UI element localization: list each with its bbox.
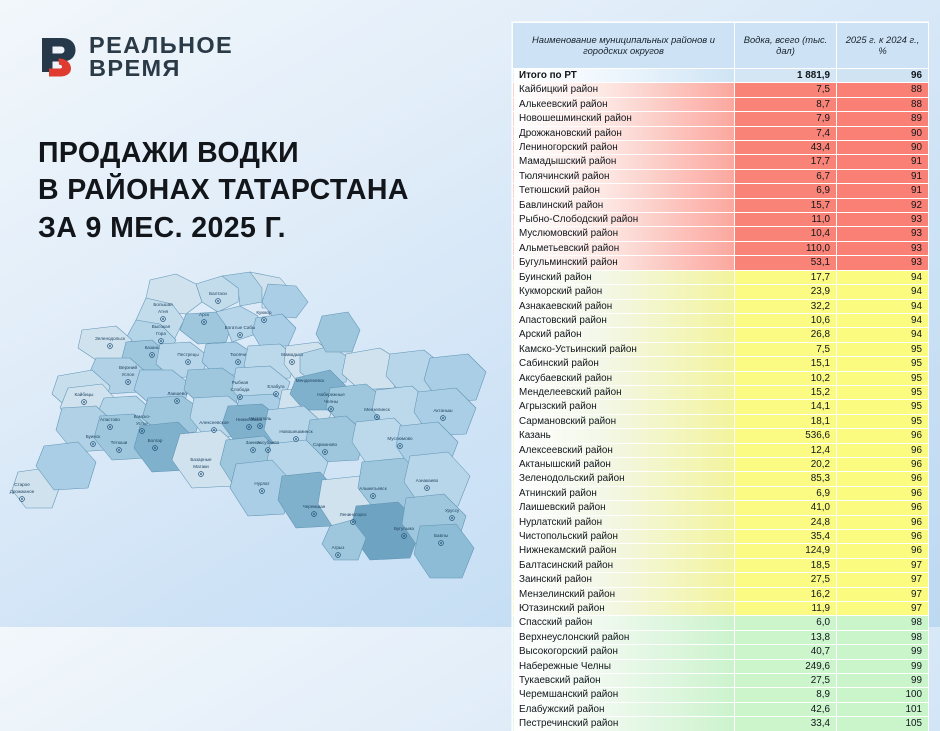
map-city-label: Муслюмово [387,436,413,441]
cell-percent-vs-2024: 89 [837,112,929,126]
table-row: Новошешминский район7,989 [513,112,929,126]
table-row: Мамадышский район17,791 [513,155,929,169]
cell-vodka-volume: 53,1 [735,256,837,270]
map-city-label: Балтаси [209,291,227,296]
cell-district-name: Атнинский район [513,486,735,500]
cell-vodka-volume: 7,5 [735,83,837,97]
cell-district-name: Азнакаевский район [513,299,735,313]
cell-percent-vs-2024: 96 [837,501,929,515]
map-city-label: Апастово [100,417,120,422]
map-city-label: Аксубаево [257,440,280,445]
map-city-label: Большая [153,302,173,307]
table-row: Лаишевский район41,096 [513,501,929,515]
cell-vodka-volume: 42,6 [735,702,837,716]
map-city-label: Атня [158,309,169,314]
sales-table-panel: Наименование муниципальных районов и гор… [512,22,928,731]
cell-percent-vs-2024: 96 [837,530,929,544]
map-city-marker-dot-icon [21,498,23,500]
table-row: Дрожжановский район7,490 [513,126,929,140]
map-city-marker-dot-icon [275,393,277,395]
page-title-line-1: ПРОДАЖИ ВОДКИ [38,135,488,172]
cell-vodka-volume: 23,9 [735,285,837,299]
cell-percent-vs-2024: 96 [837,486,929,500]
table-row: Елабужский район42,6101 [513,702,929,716]
map-city-label: Лаишево [167,391,187,396]
cell-district-name: Агрызский район [513,400,735,414]
map-city-marker-dot-icon [187,361,189,363]
map-city-label: Базарные [190,457,212,462]
map-city-marker-dot-icon [337,554,339,556]
map-city-marker-dot-icon [330,408,332,410]
brand-logo: РЕАЛЬНОЕ ВРЕМЯ [38,34,233,80]
cell-vodka-volume: 7,5 [735,342,837,356]
cell-district-name: Мамадышский район [513,155,735,169]
map-city-label: Набережные [317,392,345,397]
cell-percent-vs-2024: 100 [837,688,929,702]
cell-percent-vs-2024: 97 [837,602,929,616]
cell-percent-vs-2024: 93 [837,213,929,227]
cell-vodka-volume: 33,4 [735,717,837,731]
table-row: Верхнеуслонский район13,898 [513,630,929,644]
cell-percent-vs-2024: 92 [837,198,929,212]
cell-percent-vs-2024: 98 [837,630,929,644]
vodka-sales-table: Наименование муниципальных районов и гор… [512,22,929,731]
column-header-value: Водка, всего (тыс. дал) [735,23,837,69]
cell-percent-vs-2024: 94 [837,299,929,313]
cell-district-name: Кукморский район [513,285,735,299]
map-city-marker-dot-icon [141,430,143,432]
cell-vodka-volume: 20,2 [735,457,837,471]
table-row: Менделеевский район15,295 [513,385,929,399]
cell-district-name: Заинский район [513,573,735,587]
cell-district-name: Муслюмовский район [513,227,735,241]
cell-percent-vs-2024: 93 [837,256,929,270]
map-city-label: Казань [145,345,160,350]
cell-percent-vs-2024: 88 [837,83,929,97]
cell-vodka-volume: 10,2 [735,371,837,385]
table-row: Алексеевский район12,496 [513,443,929,457]
table-row: Кайбицкий район7,588 [513,83,929,97]
cell-vodka-volume: 6,9 [735,184,837,198]
map-city-label: Тюлячи [230,352,247,357]
table-header: Наименование муниципальных районов и гор… [513,23,929,69]
cell-district-name: Буинский район [513,270,735,284]
table-row: Бугульминский район53,193 [513,256,929,270]
table-row: Высокогорский район40,799 [513,645,929,659]
map-city-marker-dot-icon [127,381,129,383]
map-city-marker-dot-icon [372,495,374,497]
cell-vodka-volume: 6,7 [735,169,837,183]
map-city-marker-dot-icon [213,429,215,431]
cell-vodka-volume: 18,1 [735,414,837,428]
cell-district-name: Нижнекамский район [513,544,735,558]
cell-district-name: Елабужский район [513,702,735,716]
cell-percent-vs-2024: 96 [837,457,929,471]
table-row: Альметьевский район110,093 [513,241,929,255]
cell-percent-vs-2024: 93 [837,241,929,255]
cell-percent-vs-2024: 94 [837,328,929,342]
table-row: Итого по РТ1 881,996 [513,69,929,83]
table-header-row: Наименование муниципальных районов и гор… [513,23,929,69]
table-row: Тюлячинский район6,791 [513,169,929,183]
cell-district-name: Альметьевский район [513,241,735,255]
map-city-label: Челны [324,399,338,404]
cell-percent-vs-2024: 97 [837,573,929,587]
cell-vodka-volume: 1 881,9 [735,69,837,83]
cell-district-name: Менделеевский район [513,385,735,399]
cell-percent-vs-2024: 96 [837,69,929,83]
table-row: Кукморский район23,994 [513,285,929,299]
map-city-marker-dot-icon [451,517,453,519]
cell-vodka-volume: 8,9 [735,688,837,702]
map-city-marker-dot-icon [109,345,111,347]
cell-vodka-volume: 41,0 [735,501,837,515]
map-city-marker-dot-icon [83,401,85,403]
map-city-marker-dot-icon [399,445,401,447]
map-city-marker-dot-icon [151,354,153,356]
map-city-label: Услон [122,372,135,377]
table-body: Итого по РТ1 881,996Кайбицкий район7,588… [513,69,929,731]
cell-vodka-volume: 13,8 [735,630,837,644]
table-row: Аксубаевский район10,295 [513,371,929,385]
table-row: Спасский район6,098 [513,616,929,630]
map-city-label: Зеленодольск [95,336,126,341]
cell-percent-vs-2024: 94 [837,285,929,299]
map-city-label: Менделеевск [296,378,326,383]
cell-district-name: Бугульминский район [513,256,735,270]
cell-vodka-volume: 15,2 [735,385,837,399]
map-city-label: Матаки [193,464,209,469]
cell-district-name: Казань [513,429,735,443]
map-city-label: Богатые Сабы [225,325,256,330]
map-city-marker-dot-icon [237,361,239,363]
table-row: Казань536,696 [513,429,929,443]
cell-district-name: Аксубаевский район [513,371,735,385]
table-row: Пестречинский район33,4105 [513,717,929,731]
cell-vodka-volume: 15,1 [735,357,837,371]
map-city-label: Бавлы [434,533,448,538]
map-city-label: Сарманово [313,442,338,447]
cell-district-name: Черемшанский район [513,688,735,702]
cell-vodka-volume: 17,7 [735,270,837,284]
map-city-label: Алексеевское [199,420,229,425]
page-title-line-2: В РАЙОНАХ ТАТАРСТАНА [38,172,488,209]
map-city-label: Бугульма [394,526,414,531]
map-city-label: Буинск [86,434,102,439]
map-city-label: Азнакаево [416,478,439,483]
cell-vodka-volume: 18,5 [735,558,837,572]
map-city-label: Черемшан [303,504,326,509]
cell-district-name: Тукаевский район [513,674,735,688]
map-city-label: Старое [14,482,30,487]
map-city-marker-dot-icon [267,449,269,451]
map-city-label: Агрыз [332,545,345,550]
cell-district-name: Ютазинский район [513,602,735,616]
cell-district-name: Высокогорский район [513,645,735,659]
cell-percent-vs-2024: 97 [837,587,929,601]
cell-vodka-volume: 249,6 [735,659,837,673]
map-city-label: Актаныш [433,408,453,413]
cell-district-name: Апастовский район [513,313,735,327]
cell-district-name: Чистопольский район [513,530,735,544]
brand-wordmark: РЕАЛЬНОЕ ВРЕМЯ [89,34,233,80]
cell-district-name: Тюлячинский район [513,169,735,183]
cell-vodka-volume: 24,8 [735,515,837,529]
map-city-label: Рыбная [232,380,249,385]
map-city-marker-dot-icon [109,426,111,428]
cell-district-name: Алькеевский район [513,97,735,111]
map-city-label: Альметьевск [359,486,387,491]
cell-vodka-volume: 14,1 [735,400,837,414]
map-city-label: Дрожжаное [10,489,35,494]
map-city-marker-dot-icon [324,451,326,453]
column-header-name: Наименование муниципальных районов и гор… [513,23,735,69]
map-city-label: Уруссу [445,508,460,513]
table-row: Буинский район17,794 [513,270,929,284]
map-city-marker-dot-icon [160,340,162,342]
cell-district-name: Балтасинский район [513,558,735,572]
map-city-label: Мамадыш [281,352,303,357]
cell-vodka-volume: 16,2 [735,587,837,601]
cell-percent-vs-2024: 93 [837,227,929,241]
cell-district-name: Мензелинский район [513,587,735,601]
cell-percent-vs-2024: 99 [837,645,929,659]
map-city-marker-dot-icon [259,425,261,427]
cell-percent-vs-2024: 96 [837,429,929,443]
cell-percent-vs-2024: 99 [837,674,929,688]
map-city-marker-dot-icon [313,513,315,515]
map-city-label: Тетюши [111,440,128,445]
table-row: Агрызский район14,195 [513,400,929,414]
cell-percent-vs-2024: 95 [837,342,929,356]
cell-percent-vs-2024: 91 [837,184,929,198]
table-row: Атнинский район6,996 [513,486,929,500]
cell-district-name: Лаишевский район [513,501,735,515]
cell-district-name: Рыбно-Слободский район [513,213,735,227]
map-city-label: Пестрецы [177,352,198,357]
map-city-marker-dot-icon [92,443,94,445]
cell-vodka-volume: 15,7 [735,198,837,212]
cell-vodka-volume: 26,8 [735,328,837,342]
map-city-marker-dot-icon [263,319,265,321]
cell-district-name: Алексеевский район [513,443,735,457]
cell-district-name: Новошешминский район [513,112,735,126]
table-row: Мензелинский район16,297 [513,587,929,601]
cell-percent-vs-2024: 97 [837,558,929,572]
cell-vodka-volume: 7,9 [735,112,837,126]
table-row: Заинский район27,597 [513,573,929,587]
map-city-marker-dot-icon [426,487,428,489]
cell-vodka-volume: 124,9 [735,544,837,558]
cell-vodka-volume: 27,5 [735,573,837,587]
cell-percent-vs-2024: 91 [837,169,929,183]
cell-district-name: Актанышский район [513,457,735,471]
cell-percent-vs-2024: 95 [837,357,929,371]
map-city-label: Гора [156,331,166,336]
table-row: Тетюшский район6,991 [513,184,929,198]
table-row: Чистопольский район35,496 [513,530,929,544]
cell-district-name: Камско-Устьинский район [513,342,735,356]
table-row: Ютазинский район11,997 [513,602,929,616]
cell-vodka-volume: 32,2 [735,299,837,313]
map-regions [12,272,486,578]
cell-vodka-volume: 10,6 [735,313,837,327]
cell-percent-vs-2024: 95 [837,400,929,414]
map-city-label: Верхний [119,364,138,370]
map-city-label: Нурлат [254,481,270,486]
cell-district-name: Арский район [513,328,735,342]
table-row: Бавлинский район15,792 [513,198,929,212]
cell-district-name: Сабинский район [513,357,735,371]
table-row: Актанышский район20,296 [513,457,929,471]
cell-district-name: Бавлинский район [513,198,735,212]
cell-percent-vs-2024: 96 [837,544,929,558]
table-row: Азнакаевский район32,294 [513,299,929,313]
map-city-label: Елабуга [267,384,285,389]
map-city-marker-dot-icon [291,361,293,363]
map-city-label: Болгар [148,438,163,443]
map-city-label: Арск [199,312,210,317]
cell-percent-vs-2024: 95 [837,371,929,385]
cell-district-name: Верхнеуслонский район [513,630,735,644]
table-row: Черемшанский район8,9100 [513,688,929,702]
table-row: Сармановский район18,195 [513,414,929,428]
brand-line-2: ВРЕМЯ [89,57,233,80]
cell-percent-vs-2024: 95 [837,385,929,399]
cell-percent-vs-2024: 99 [837,659,929,673]
cell-percent-vs-2024: 88 [837,97,929,111]
cell-percent-vs-2024: 105 [837,717,929,731]
table-row: Тукаевский район27,599 [513,674,929,688]
cell-vodka-volume: 11,9 [735,602,837,616]
page-title-line-3: ЗА 9 МЕС. 2025 Г. [38,210,488,247]
map-city-marker-dot-icon [200,473,202,475]
cell-vodka-volume: 11,0 [735,213,837,227]
cell-vodka-volume: 6,0 [735,616,837,630]
table-row: Муслюмовский район10,493 [513,227,929,241]
cell-vodka-volume: 7,4 [735,126,837,140]
map-city-label: Лениногорск [340,512,368,517]
map-city-marker-dot-icon [162,318,164,320]
cell-district-name: Зеленодольский район [513,472,735,486]
map-city-label: Кайбицы [75,391,94,397]
cell-vodka-volume: 40,7 [735,645,837,659]
cell-district-name: Дрожжановский район [513,126,735,140]
cell-vodka-volume: 35,4 [735,530,837,544]
map-city-marker-dot-icon [440,542,442,544]
table-row: Зеленодольский район85,396 [513,472,929,486]
cell-district-name: Набережные Челны [513,659,735,673]
table-row: Балтасинский район18,597 [513,558,929,572]
map-city-label: Камско- [134,414,151,419]
cell-vodka-volume: 43,4 [735,141,837,155]
cell-percent-vs-2024: 96 [837,515,929,529]
realnoe-vremya-logo-icon [38,35,78,79]
left-panel: РЕАЛЬНОЕ ВРЕМЯ ПРОДАЖИ ВОДКИ В РАЙОНАХ Т… [0,0,510,627]
cell-vodka-volume: 536,6 [735,429,837,443]
cell-percent-vs-2024: 96 [837,472,929,486]
cell-district-name: Тетюшский район [513,184,735,198]
cell-percent-vs-2024: 101 [837,702,929,716]
map-city-label: Слобода [231,387,250,392]
cell-vodka-volume: 85,3 [735,472,837,486]
cell-percent-vs-2024: 96 [837,443,929,457]
table-row: Рыбно-Слободский район11,093 [513,213,929,227]
table-row: Камско-Устьинский район7,595 [513,342,929,356]
map-city-label: Кукмор [256,310,272,315]
map-city-marker-dot-icon [239,334,241,336]
map-city-label: Мензелинск [364,407,391,412]
column-header-percent: 2025 г. к 2024 г., % [837,23,929,69]
map-city-label: Высокая [152,324,171,329]
map-city-marker-dot-icon [352,521,354,523]
cell-vodka-volume: 6,9 [735,486,837,500]
map-city-marker-dot-icon [248,426,250,428]
cell-percent-vs-2024: 91 [837,155,929,169]
cell-percent-vs-2024: 94 [837,270,929,284]
cell-percent-vs-2024: 90 [837,126,929,140]
map-city-label: Устье [136,421,148,426]
map-city-label: Чистополь [249,416,272,421]
cell-percent-vs-2024: 95 [837,414,929,428]
table-row: Нижнекамский район124,996 [513,544,929,558]
cell-percent-vs-2024: 98 [837,616,929,630]
map-city-marker-dot-icon [376,416,378,418]
map-city-marker-dot-icon [203,321,205,323]
brand-line-1: РЕАЛЬНОЕ [89,34,233,57]
cell-district-name: Итого по РТ [513,69,735,83]
map-city-marker-dot-icon [217,300,219,302]
table-row: Нурлатский район24,896 [513,515,929,529]
table-row: Апастовский район10,694 [513,313,929,327]
map-city-marker-dot-icon [261,490,263,492]
cell-percent-vs-2024: 94 [837,313,929,327]
cell-vodka-volume: 17,7 [735,155,837,169]
cell-district-name: Нурлатский район [513,515,735,529]
cell-district-name: Сармановский район [513,414,735,428]
map-city-marker-dot-icon [295,438,297,440]
cell-vodka-volume: 10,4 [735,227,837,241]
map-city-marker-dot-icon [403,535,405,537]
map-city-marker-dot-icon [252,449,254,451]
cell-district-name: Пестречинский район [513,717,735,731]
map-city-marker-dot-icon [118,449,120,451]
map-city-marker-dot-icon [442,417,444,419]
cell-district-name: Спасский район [513,616,735,630]
tatarstan-map: .rg{stroke:#5f93b4;stroke-width:0.55;str… [0,258,510,603]
table-row: Арский район26,894 [513,328,929,342]
cell-vodka-volume: 110,0 [735,241,837,255]
cell-vodka-volume: 12,4 [735,443,837,457]
cell-percent-vs-2024: 90 [837,141,929,155]
table-row: Алькеевский район8,788 [513,97,929,111]
table-row: Набережные Челны249,699 [513,659,929,673]
map-city-marker-dot-icon [176,400,178,402]
cell-district-name: Лениногорский район [513,141,735,155]
table-row: Лениногорский район43,490 [513,141,929,155]
cell-district-name: Кайбицкий район [513,83,735,97]
map-city-marker-dot-icon [154,447,156,449]
page-title: ПРОДАЖИ ВОДКИ В РАЙОНАХ ТАТАРСТАНА ЗА 9 … [38,135,488,247]
map-city-label: Новошешминск [279,429,313,434]
cell-vodka-volume: 8,7 [735,97,837,111]
map-city-marker-dot-icon [239,396,241,398]
cell-vodka-volume: 27,5 [735,674,837,688]
table-row: Сабинский район15,195 [513,357,929,371]
